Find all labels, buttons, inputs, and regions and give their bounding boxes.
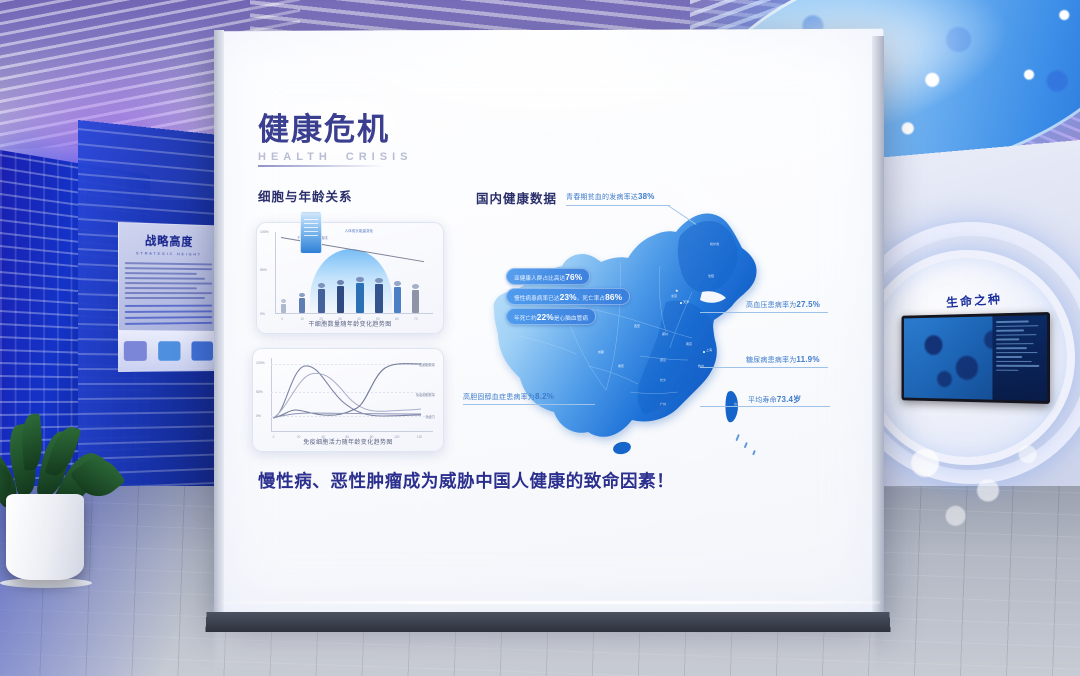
figure-age-30 <box>337 280 344 313</box>
legend-item-0: 癌细胞数量 <box>419 362 435 367</box>
right-exhibit-screen[interactable] <box>901 312 1050 404</box>
callout-cholesterol: 高胆固醇血症患病率为8.2% <box>463 392 554 402</box>
pill-cardio-text2: 是心脑血管病 <box>554 316 588 322</box>
city-label-tianjin: 天津 <box>683 300 689 304</box>
pill-chronic-value2: 86% <box>605 292 622 302</box>
callout-life-value: 73.4岁 <box>777 395 802 404</box>
figure-age-0 <box>281 299 286 313</box>
pill-chronic-value: 23% <box>560 292 577 302</box>
city-label-zhengzhou: 郑州 <box>662 332 668 336</box>
callout-anemia-text: 青春期贫血的发病率达 <box>566 194 638 201</box>
china-health-map: ★ 北京 天津 上海 重庆 广州 成都 西安 武汉 南京 杭州 郑州 长沙 沈阳… <box>470 206 800 468</box>
exhibition-hall-photo: 战略高度 STRATEGIC HEIGHT 生命之种 <box>0 0 1080 676</box>
pill-cardiovascular: 年死亡约22%是心脑血管病 <box>506 308 596 325</box>
figure-age-20 <box>318 283 325 313</box>
city-dot-shanghai <box>703 351 705 353</box>
x-axis <box>275 313 433 314</box>
city-label-xian: 西安 <box>634 324 640 328</box>
page-subtitle: HEALTHCRISIS <box>258 151 426 163</box>
legend-item-1: 免疫细胞数量 <box>416 392 435 397</box>
stem-cell-plot: 100% 50% 0% 干细胞数量下降曲线 人体成长能量变化 <box>275 232 433 314</box>
y-tick-1: 50% <box>260 268 267 272</box>
y-tick-2: 0% <box>260 312 265 316</box>
pill-cardio-value: 22% <box>537 312 554 322</box>
y2-tick-0: 100% <box>256 361 265 365</box>
city-label-shenyang: 沈阳 <box>708 274 714 278</box>
subtitle-word-health: HEALTH <box>258 151 332 163</box>
callout-cholesterol-value: 8.2% <box>535 392 554 401</box>
city-label-harbin: 哈尔滨 <box>710 242 719 246</box>
wall-left-edge <box>214 30 224 618</box>
left-panel-subtitle: STRATEGIC HEIGHT <box>119 250 217 257</box>
chip-3 <box>191 341 213 360</box>
city-dot-tianjin <box>680 302 682 304</box>
callout-life-text: 平均寿命 <box>748 397 777 404</box>
plant-pot <box>6 494 84 580</box>
y2-tick-1: 50% <box>256 390 263 394</box>
chart-card-immune: 100% 50% 0% 癌细胞数量 免疫细胞数量 免疫力 0 20 40 60 … <box>252 348 444 452</box>
chart-caption-stem-cell: 干细胞数量随年龄变化趋势图 <box>257 319 443 328</box>
pill-chronic-text2: ，死亡率占 <box>577 296 605 302</box>
figure-age-60 <box>394 281 402 313</box>
y-tick-0: 100% <box>260 230 269 234</box>
chip-1 <box>124 341 147 361</box>
section-title-health-data: 国内健康数据 <box>476 188 557 207</box>
city-label-changsha: 长沙 <box>660 378 666 382</box>
annotation-peak: 人体成长能量变化 <box>345 229 374 234</box>
left-panel-bullets <box>125 305 212 325</box>
screen-side-panel <box>993 315 1047 401</box>
capital-star-beijing: ★ <box>675 288 679 293</box>
pill-subhealth-text: 亚健康人群占比高达 <box>514 276 565 282</box>
chart-card-stem-cell: 100% 50% 0% 干细胞数量下降曲线 人体成长能量变化 <box>256 222 444 334</box>
pill-chronic-text: 慢性病患病率已达 <box>514 296 560 302</box>
pill-chronic: 慢性病患病率已达23%，死亡率占86% <box>506 288 630 305</box>
figure-age-70 <box>412 284 419 313</box>
y-axis <box>275 232 276 314</box>
wall-right-edge <box>872 36 884 616</box>
panel-header: 健康危机 HEALTHCRISIS <box>258 104 426 163</box>
callout-hypertension: 高血压患病率为27.5% <box>746 300 820 310</box>
city-label-shanghai: 上海 <box>706 348 712 352</box>
immune-curves <box>271 358 423 420</box>
page-title: 健康危机 <box>258 104 426 149</box>
wall-base-light-strip <box>222 601 880 604</box>
callout-diabetes: 糖尿病患病率为11.9% <box>746 355 820 365</box>
callout-hypertension-leader <box>700 312 828 313</box>
callout-hypertension-value: 27.5% <box>796 300 820 309</box>
city-label-beijing: 北京 <box>671 294 677 298</box>
callout-anemia-value: 38% <box>638 192 655 201</box>
callout-diabetes-leader <box>700 367 828 368</box>
figure-age-40 <box>356 277 364 314</box>
header-underline <box>258 165 386 167</box>
callout-cholesterol-leader <box>463 404 595 405</box>
immune-plot: 100% 50% 0% 癌细胞数量 免疫细胞数量 免疫力 0 20 40 60 … <box>271 358 433 432</box>
city-label-chongqing: 重庆 <box>618 364 624 368</box>
callout-anemia: 青春期贫血的发病率达38% <box>566 192 655 202</box>
pill-subhealth: 亚健康人群占比高达76% <box>506 268 590 285</box>
callout-hypertension-text: 高血压患病率为 <box>746 302 796 309</box>
subtitle-word-crisis: CRISIS <box>346 151 413 163</box>
left-panel-body-text <box>125 262 212 299</box>
legend-item-2: 免疫力 <box>425 414 435 419</box>
china-map-svg <box>470 206 800 468</box>
section-title-cell-age: 细胞与年龄关系 <box>258 186 353 205</box>
bottom-statement: 慢性病、恶性肿瘤成为威胁中国人健康的致命因素！ <box>258 468 678 493</box>
city-label-chengdu: 成都 <box>598 350 604 354</box>
pill-cardio-text: 年死亡约 <box>514 316 537 322</box>
callout-cholesterol-text: 高胆固醇血症患病率为 <box>463 394 535 401</box>
y2-tick-2: 0% <box>256 414 261 418</box>
callout-anemia-leader <box>566 205 670 206</box>
left-wall-chip-row <box>118 330 218 372</box>
city-label-guangzhou: 广州 <box>660 402 666 406</box>
wall-base-plinth <box>205 612 890 632</box>
city-label-wuhan: 武汉 <box>660 358 666 362</box>
pill-subhealth-value: 76% <box>565 272 582 282</box>
callout-diabetes-text: 糖尿病患病率为 <box>746 357 796 364</box>
left-panel-title: 战略高度 <box>119 231 217 250</box>
taiwan-info-card <box>300 212 322 254</box>
callout-life-leader <box>700 406 830 407</box>
chart-caption-immune: 免疫细胞活力随年龄变化趋势图 <box>253 437 443 446</box>
callout-diabetes-value: 11.9% <box>796 355 819 364</box>
callout-life-expectancy: 平均寿命73.4岁 <box>748 394 801 405</box>
x-axis-2 <box>271 431 433 432</box>
figure-age-50 <box>375 278 383 314</box>
chip-2 <box>158 341 180 361</box>
figure-age-10 <box>299 293 305 314</box>
city-label-nanjing: 南京 <box>686 342 692 346</box>
